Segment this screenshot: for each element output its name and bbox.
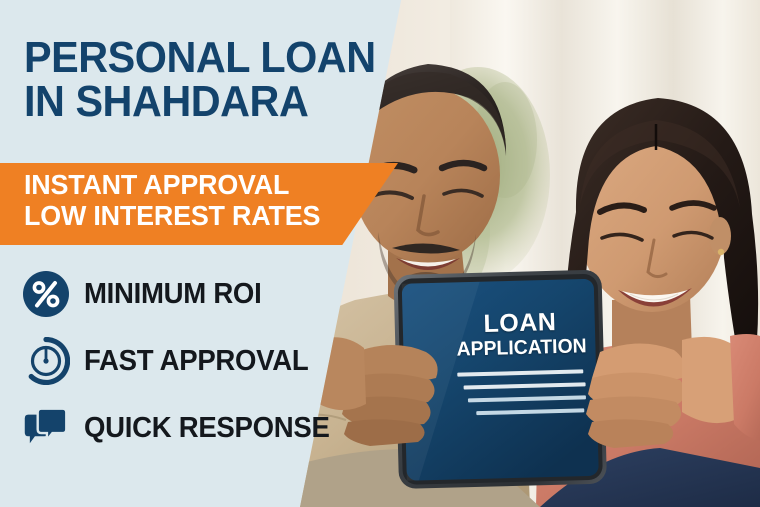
- headline-line-1: PERSONAL LOAN: [24, 33, 376, 82]
- feature-label: QUICK RESPONSE: [84, 412, 330, 445]
- form-line: [468, 395, 586, 402]
- tablet-form-lines: [455, 369, 588, 415]
- form-line: [464, 382, 586, 389]
- subhead-line-1: INSTANT APPROVAL: [24, 169, 370, 200]
- feature-item-quick-response: QUICK RESPONSE: [22, 402, 442, 454]
- percent-icon: [22, 270, 70, 318]
- loan-advertisement-banner: LOAN APPLICATION PERSONAL LOAN IN SHAHDA…: [0, 0, 760, 507]
- clock-icon: [22, 337, 70, 385]
- feature-item-minimum-roi: MINIMUM ROI: [22, 268, 442, 320]
- subhead-line-2: LOW INTEREST RATES: [24, 200, 370, 231]
- feature-label: MINIMUM ROI: [84, 278, 261, 311]
- form-line: [457, 369, 583, 376]
- tablet-title-line2: APPLICATION: [456, 336, 585, 360]
- chat-bubbles-icon: [22, 404, 70, 452]
- headline-line-2: IN SHAHDARA: [24, 80, 381, 124]
- page-title: PERSONAL LOAN IN SHAHDARA: [24, 36, 381, 123]
- tablet-title-line1: LOAN: [454, 309, 587, 338]
- feature-list: MINIMUM ROI FAST APPROVAL QUICK RESPONSE: [22, 268, 442, 469]
- feature-label: FAST APPROVAL: [84, 345, 308, 378]
- tablet-screen-content: LOAN APPLICATION: [454, 309, 589, 415]
- feature-item-fast-approval: FAST APPROVAL: [22, 335, 442, 387]
- subhead-text: INSTANT APPROVAL LOW INTEREST RATES: [24, 169, 370, 232]
